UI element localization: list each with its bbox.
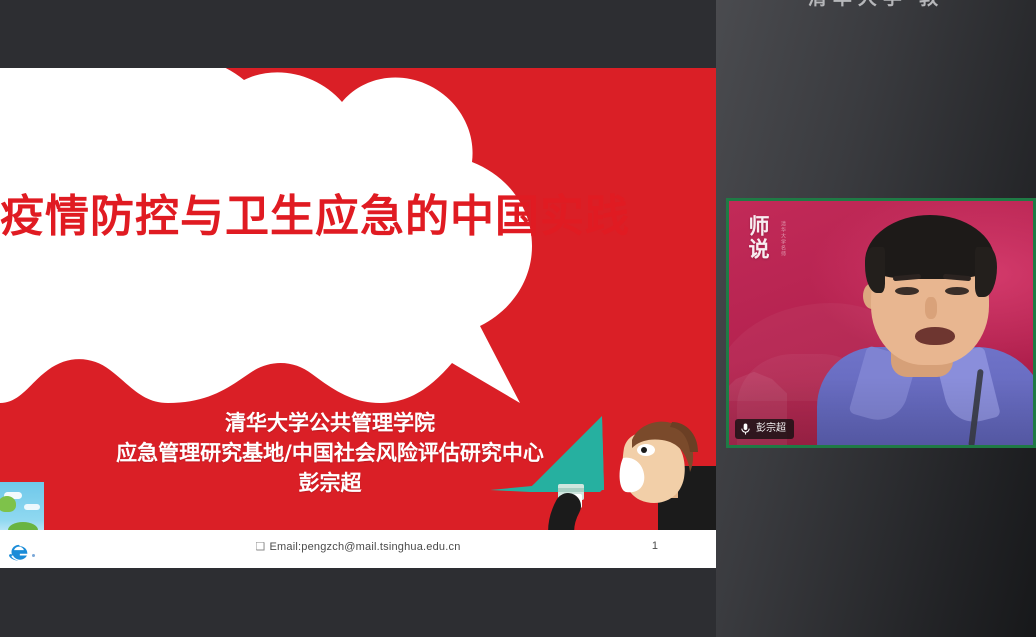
screen-root: 清华大学 教 师说 清华大学名师 [0,0,1036,637]
microphone-icon [740,423,751,436]
slide-footer: ❑Email:pengzch@mail.tsinghua.edu.cn 1 [0,530,716,568]
participant-video-tile[interactable]: 师说 清华大学名师 [726,198,1036,448]
footer-cursor-dot [32,554,35,557]
meeting-top-banner-text: 清华大学 教 [716,0,1036,10]
thumb-tree [0,496,16,512]
participant-name-label: 彭宗超 [756,423,786,435]
slide-title: 疫情防控与卫生应急的中国实践 [0,180,600,244]
shared-slide[interactable]: 疫情防控与卫生应急的中国实践 清华大学公共管理学院 应急管理研究基地/中国社会风… [0,68,716,568]
footer-email-line: ❑Email:pengzch@mail.tsinghua.edu.cn [0,540,716,553]
video-vignette [729,201,1033,445]
participant-name-badge: 彭宗超 [735,419,794,439]
footer-email-text: Email:pengzch@mail.tsinghua.edu.cn [270,541,461,553]
video-frame: 师说 清华大学名师 [729,201,1033,445]
footer-bullet-icon: ❑ [255,541,265,553]
slide-page-number: 1 [652,540,658,552]
thumb-cloud-2 [24,504,40,510]
